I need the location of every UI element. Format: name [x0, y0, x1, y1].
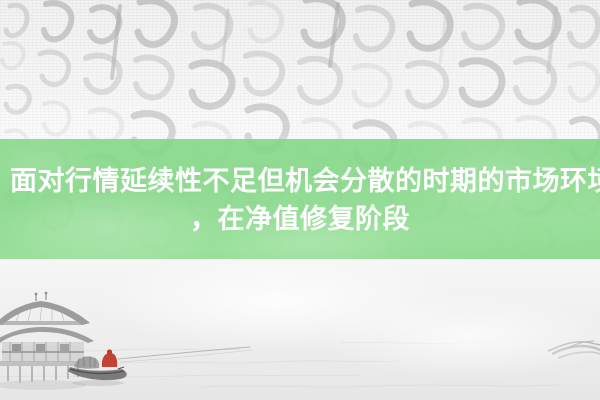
headline-line-2: ，在净值修复阶段	[10, 201, 590, 239]
article-banner-image: 面对行情延续性不足但机会分散的时期的市场环境 ，在净值修复阶段	[0, 0, 600, 400]
landscape-background	[0, 259, 600, 400]
headline-band: 面对行情延续性不足但机会分散的时期的市场环境 ，在净值修复阶段	[0, 139, 600, 259]
landscape-illustration	[0, 259, 600, 400]
headline-text: 面对行情延续性不足但机会分散的时期的市场环境 ，在净值修复阶段	[10, 163, 590, 239]
headline-line-1: 面对行情延续性不足但机会分散的时期的市场环境	[10, 166, 600, 197]
